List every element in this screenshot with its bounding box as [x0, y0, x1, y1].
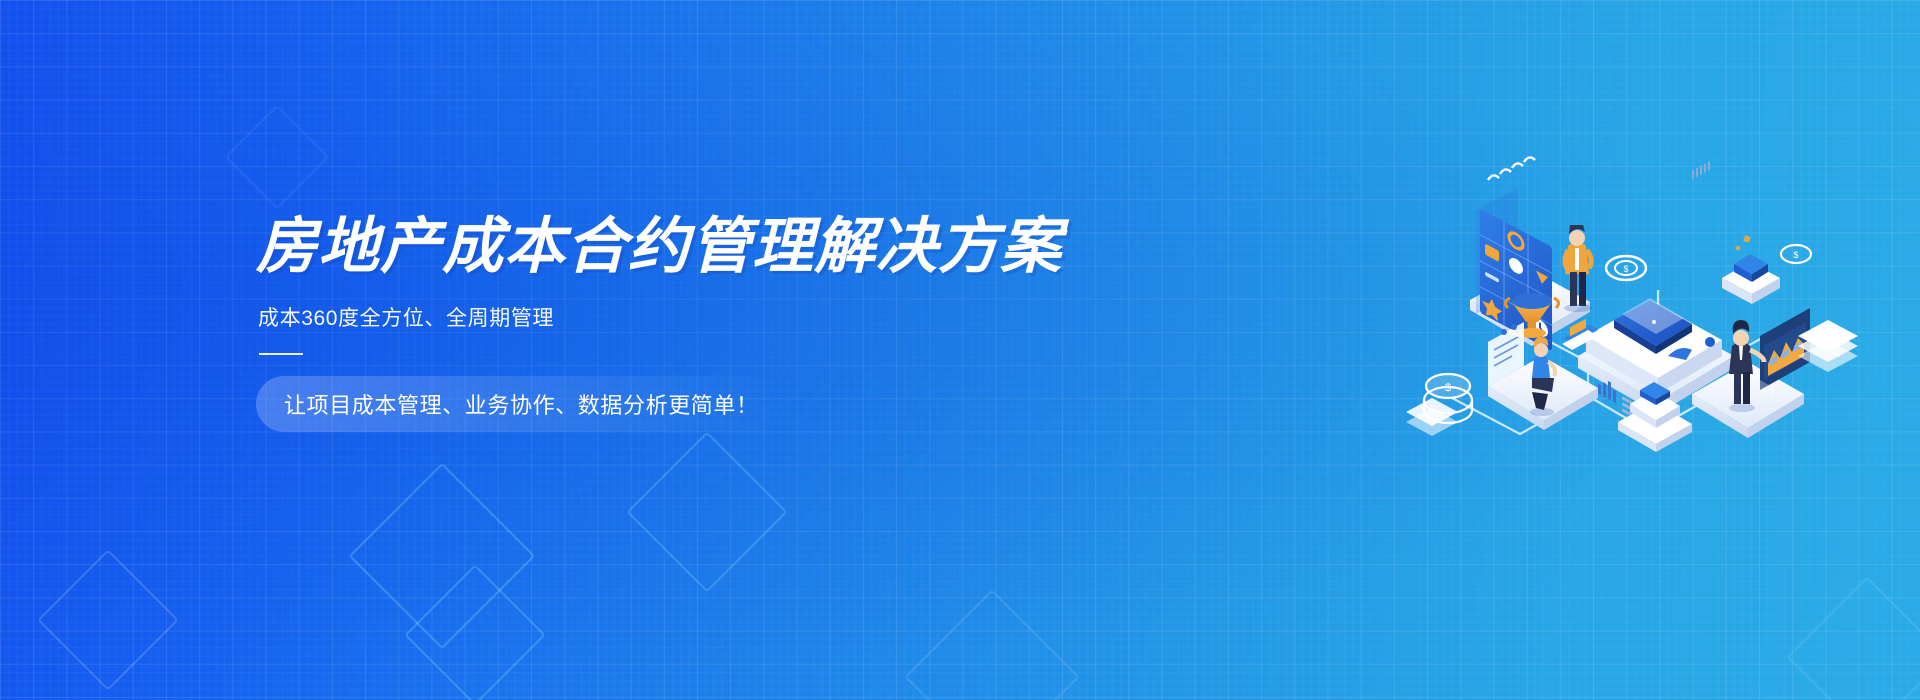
svg-text:$: $ — [1793, 250, 1798, 260]
title-divider — [259, 353, 303, 355]
svg-text:$: $ — [1445, 382, 1451, 394]
tagline-pill: 让项目成本管理、业务协作、数据分析更简单！ — [256, 376, 785, 432]
decor-diamond — [1786, 576, 1920, 700]
calendar-rings — [1488, 157, 1535, 180]
page-title: 房地产成本合约管理解决方案 — [256, 214, 1016, 280]
dollar-coin-icon: $ — [1606, 256, 1646, 280]
svg-text:$: $ — [1623, 264, 1628, 274]
paper-stack-icon — [1406, 398, 1458, 436]
hero-illustration: $ — [1392, 150, 1872, 450]
page-subtitle: 成本360度全方位、全周期管理 — [258, 302, 1016, 332]
hero-banner: 房地产成本合约管理解决方案 成本360度全方位、全周期管理 让项目成本管理、业务… — [0, 0, 1920, 700]
decor-diamond — [626, 431, 787, 592]
decor-diamond — [37, 549, 178, 690]
decor-diamond — [349, 463, 536, 650]
decor-diamond — [904, 589, 1079, 700]
decor-diamond — [404, 564, 545, 700]
hero-copy-block: 房地产成本合约管理解决方案 成本360度全方位、全周期管理 — [256, 214, 1016, 363]
cube-tower-icon — [1722, 235, 1780, 304]
tagline-text: 让项目成本管理、业务协作、数据分析更简单！ — [284, 388, 759, 420]
calendar-board-icon — [1476, 157, 1562, 351]
decor-diamond — [225, 105, 330, 210]
dollar-coin-icon: $ — [1781, 245, 1811, 263]
